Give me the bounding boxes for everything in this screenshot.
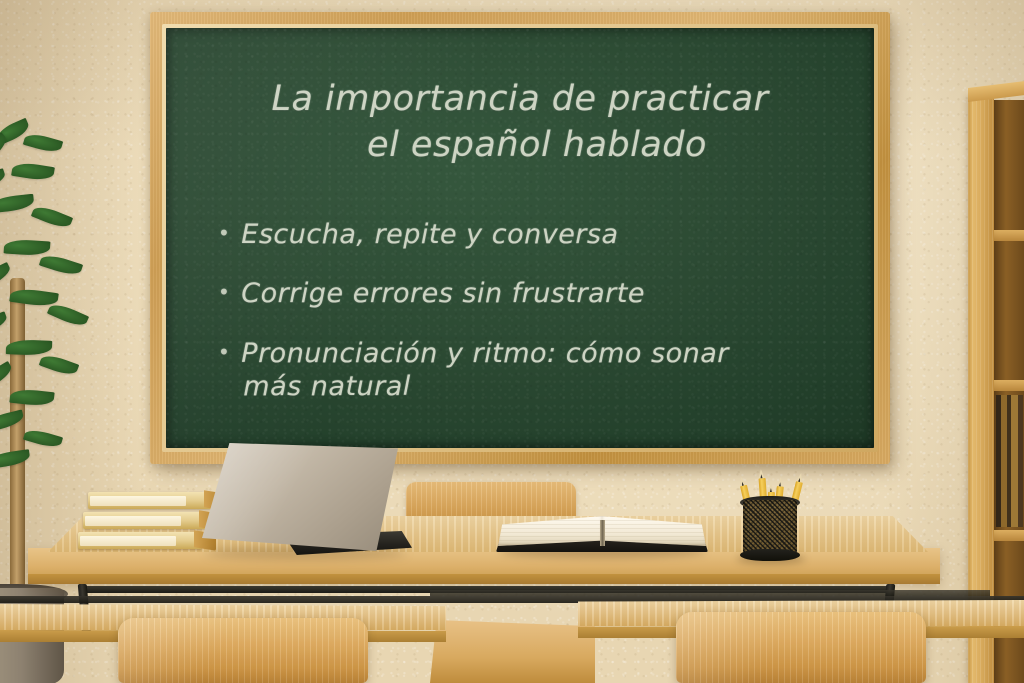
plant-leaf [23,131,63,155]
chair-backrest [676,612,926,683]
chalk-writing: La importancia de practicar el español h… [166,28,874,448]
plant-leaf [0,194,35,214]
bullet-text: Pronunciación y ritmo: cómo sonarmás nat… [241,337,838,404]
plant-leaf [6,339,52,356]
plant-leaf [23,427,63,450]
bookshelf-books [996,395,1023,527]
pencil-graphite-tip [779,482,781,486]
laptop-lid-highlight [202,443,398,551]
bullet-marker-icon: • [218,337,230,368]
student-desk-middle-slab [430,620,595,683]
desk-front-edge [28,574,940,584]
book-page-edges [85,516,181,526]
bullet-text-line-2: más natural [243,370,838,403]
pencil-holder[interactable] [737,456,803,560]
book-middle [83,512,207,529]
book-bottom [78,532,202,549]
bullet-text: Escucha, repite y conversa [241,218,838,251]
plant-leaf [31,203,73,231]
plant-leaf [11,161,55,182]
bookshelf-shelf-2 [994,380,1024,391]
bookshelf-top-panel [968,81,1024,102]
open-book[interactable] [496,516,708,562]
student-chair-right [676,612,926,683]
pencil-graphite-tip [770,488,772,492]
plant-leaf [39,252,83,278]
plant-leaf [4,238,51,256]
chalkboard-surface: La importancia de practicar el español h… [166,28,874,448]
book-top [88,492,212,509]
book-page-edges [90,496,186,506]
bullet-item: • Corrige errores sin frustrarte [218,277,838,310]
bookshelf-shelf-1 [994,230,1024,241]
plant-leaf [47,300,89,329]
potted-plant [0,118,126,538]
plant-leaf [0,213,1,246]
plant-leaf [0,311,9,339]
bullet-marker-icon: • [218,218,230,249]
bullet-item: • Pronunciación y ritmo: cómo sonarmás n… [218,337,838,404]
book-page-edges [80,536,176,546]
laptop[interactable] [196,443,418,561]
chalkboard: La importancia de practicar el español h… [150,12,890,464]
pencil-graphite-tip [760,474,762,478]
bullet-text-line-1: Pronunciación y ritmo: cómo sonar [241,338,729,369]
pencil-holder-base [740,549,800,561]
pencil-holder-mesh-body [743,500,797,556]
chalkboard-title: La importancia de practicar el español h… [166,76,874,168]
classroom-scene: La importancia de practicar el español h… [0,0,1024,683]
title-line-1: La importancia de practicar [166,76,874,122]
plant-trunk [10,278,25,608]
chalkboard-bullet-list: • Escucha, repite y conversa • Corrige e… [218,218,838,430]
open-book-spine [600,520,605,546]
bullet-marker-icon: • [218,277,230,308]
bullet-text: Corrige errores sin frustrarte [241,277,838,310]
student-chair-left [118,618,368,683]
title-line-2: el español hablado [200,122,874,168]
bookshelf-shelf-3 [994,530,1024,541]
chair-backrest [118,618,368,683]
plant-leaf [0,168,7,194]
bullet-item: • Escucha, repite y conversa [218,218,838,251]
plant-leaf [39,352,79,378]
